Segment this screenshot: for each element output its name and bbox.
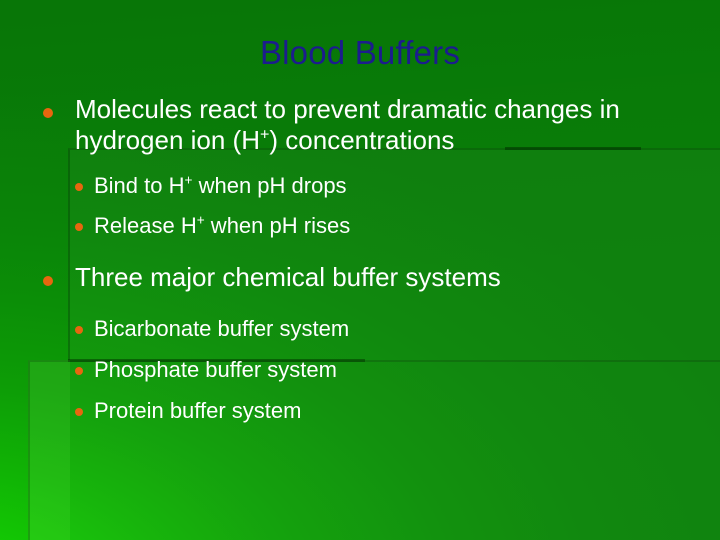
sub-bullet-dot-icon: [75, 223, 83, 231]
sub-bullet-item-protein: Protein buffer system: [0, 397, 720, 424]
slide-title: Blood Buffers: [0, 33, 720, 73]
sub-bullet-item-bicarbonate: Bicarbonate buffer system: [0, 315, 720, 342]
sub-bullet-text-part-a: Bind to H: [94, 173, 185, 198]
bullet-text-part-b: ) concentrations: [269, 125, 454, 155]
sub-bullet-text-part-b: when pH rises: [205, 213, 351, 238]
bullet-dot-icon: [43, 276, 53, 286]
sub-bullet-text: Protein buffer system: [94, 398, 301, 423]
sub-bullet-dot-icon: [75, 183, 83, 191]
sub-bullet-item-bind-to-h: Bind to H+ when pH drops: [0, 172, 720, 199]
sub-bullet-dot-icon: [75, 326, 83, 334]
slide: Blood Buffers Molecules react to prevent…: [0, 0, 720, 540]
sub-bullet-text-part-a: Release H: [94, 213, 197, 238]
bullet-item-three-major-systems: Three major chemical buffer systems: [0, 262, 720, 293]
bullet-item-molecules-react: Molecules react to prevent dramatic chan…: [0, 94, 720, 156]
bullet-dot-icon: [43, 108, 53, 118]
slide-body: Molecules react to prevent dramatic chan…: [0, 94, 720, 424]
sub-bullet-text-part-b: when pH drops: [192, 173, 346, 198]
bullet-text: Three major chemical buffer systems: [75, 262, 501, 292]
sub-bullet-item-release-h: Release H+ when pH rises: [0, 212, 720, 239]
sub-bullet-dot-icon: [75, 367, 83, 375]
sub-bullet-text: Bicarbonate buffer system: [94, 316, 349, 341]
sub-bullet-dot-icon: [75, 408, 83, 416]
sub-bullet-text: Phosphate buffer system: [94, 357, 337, 382]
superscript-plus: +: [197, 213, 205, 228]
sub-bullet-item-phosphate: Phosphate buffer system: [0, 356, 720, 383]
superscript-plus: +: [260, 125, 269, 143]
